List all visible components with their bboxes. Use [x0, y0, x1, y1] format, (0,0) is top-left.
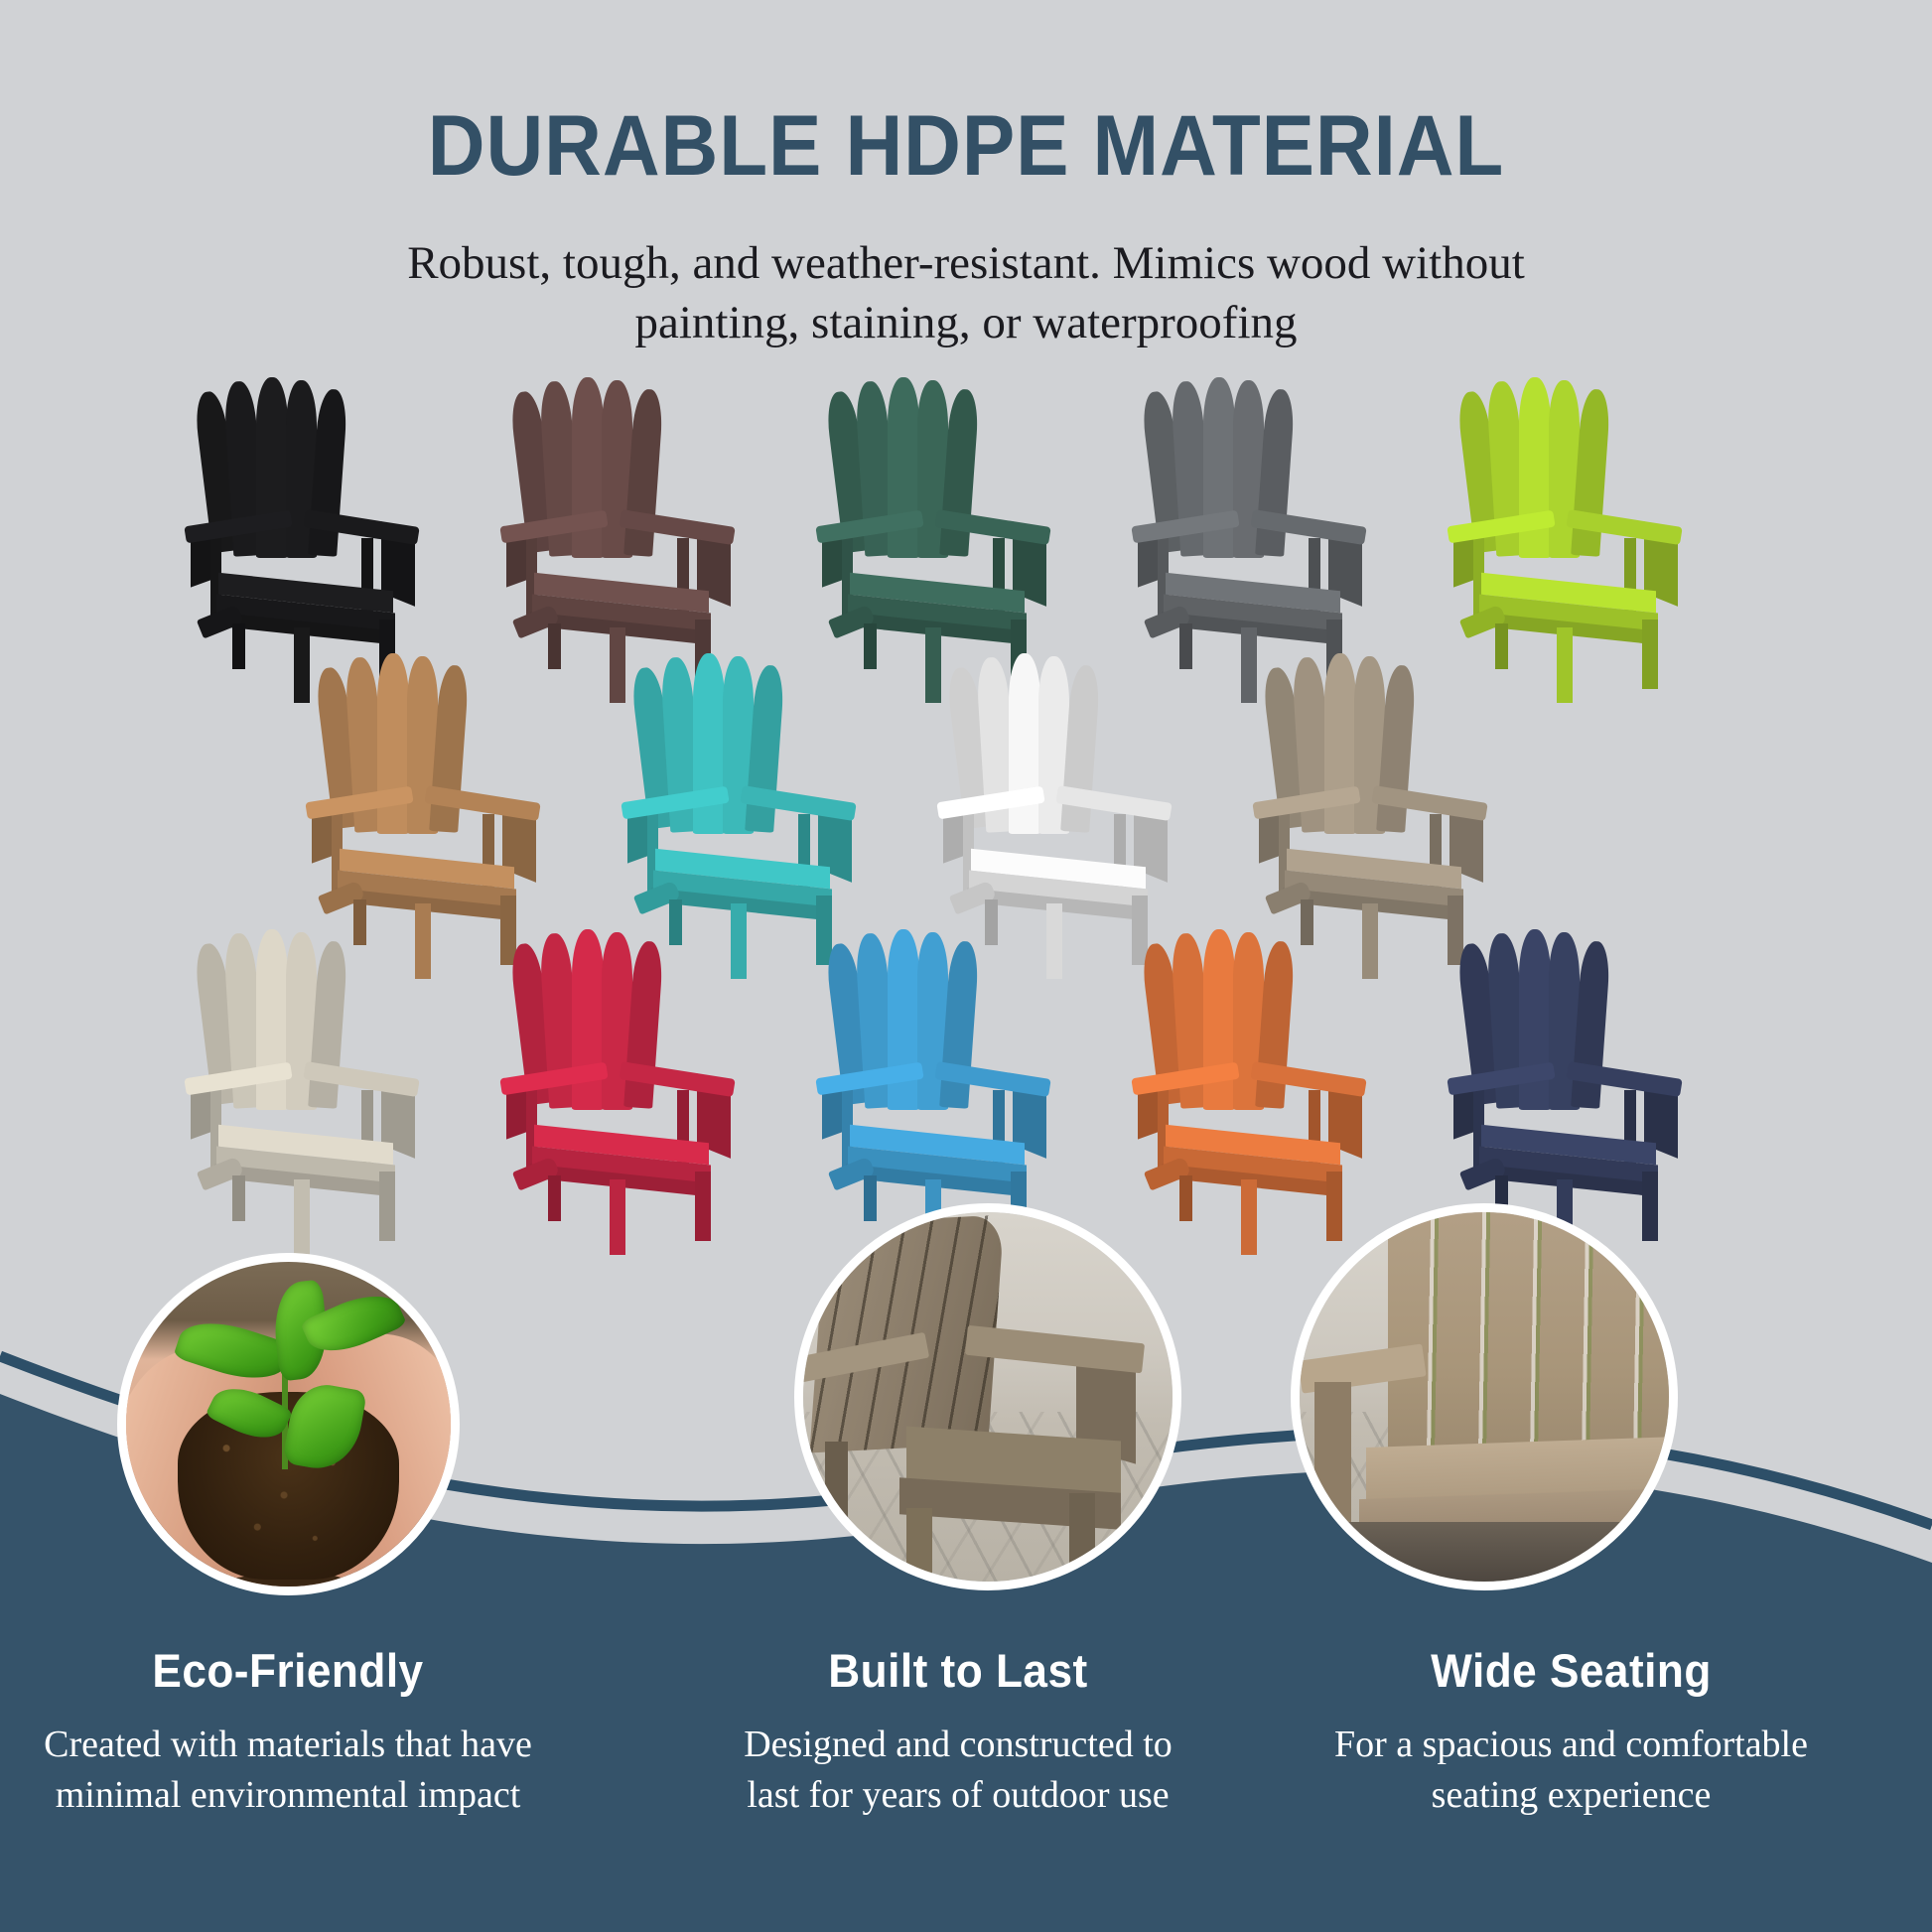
chair-swatch-gray[interactable]: [1124, 369, 1372, 637]
chair-swatch-light-blue[interactable]: [808, 921, 1056, 1189]
adirondack-chair-icon: [614, 645, 862, 913]
feature-body-line-2: seating experience: [1276, 1770, 1866, 1821]
chair-row-2: [0, 645, 1932, 921]
adirondack-chair-icon: [1124, 921, 1372, 1189]
chair-part-legBL: [548, 1175, 561, 1221]
page-title: DURABLE HDPE MATERIAL: [68, 97, 1864, 196]
adirondack-chair-icon: [1440, 921, 1688, 1189]
chair-swatch-black[interactable]: [177, 369, 425, 637]
adirondack-chair-icon: [808, 369, 1056, 637]
feature-body: For a spacious and comfortable seating e…: [1276, 1720, 1866, 1821]
feature-image-built-to-last: [794, 1203, 1181, 1590]
adirondack-chair-icon: [929, 645, 1177, 913]
hands-holding-seedling-icon: [126, 1262, 451, 1587]
chair-color-grid: [0, 369, 1932, 1197]
chair-part-legBL: [232, 1175, 245, 1221]
chair-swatch-navy[interactable]: [1440, 921, 1688, 1189]
chair-swatch-khaki[interactable]: [1245, 645, 1493, 913]
feature-image-wide-seating: [1291, 1203, 1678, 1590]
feature-body-line-1: For a spacious and comfortable: [1276, 1720, 1866, 1770]
adirondack-chair-icon: [492, 369, 741, 637]
subtitle-line-1: Robust, tough, and weather-resistant. Mi…: [0, 233, 1932, 293]
chair-part-legFL: [294, 1179, 310, 1255]
chair-swatch-turquoise[interactable]: [614, 645, 862, 913]
feature-heading: Eco-Friendly: [55, 1643, 521, 1698]
page-subtitle: Robust, tough, and weather-resistant. Mi…: [0, 233, 1932, 352]
chair-part-legFR: [379, 1172, 395, 1241]
chair-swatch-lime-green[interactable]: [1440, 369, 1688, 637]
feature-body: Created with materials that have minimal…: [40, 1720, 536, 1821]
chair-part-legBL: [1179, 1175, 1192, 1221]
chair-part-legFL: [610, 1179, 625, 1255]
feature-eco-friendly: Eco-Friendly Created with materials that…: [40, 1643, 536, 1821]
chair-swatch-tan[interactable]: [298, 645, 546, 913]
adirondack-chair-icon: [1124, 369, 1372, 637]
chair-swatch-brown[interactable]: [492, 369, 741, 637]
chair-part-legFL: [1241, 1179, 1257, 1255]
feature-body: Designed and constructed to last for yea…: [695, 1720, 1221, 1821]
adirondack-chair-icon: [177, 921, 425, 1189]
feature-body-line-2: minimal environmental impact: [40, 1770, 536, 1821]
chair-swatch-ivory[interactable]: [177, 921, 425, 1189]
chair-row-1: [0, 369, 1932, 645]
feature-body-line-2: last for years of outdoor use: [695, 1770, 1221, 1821]
feature-heading: Wide Seating: [1294, 1643, 1849, 1698]
adirondack-chair-icon: [808, 921, 1056, 1189]
adirondack-chair-icon: [1245, 645, 1493, 913]
chair-swatch-white[interactable]: [929, 645, 1177, 913]
chair-swatch-red[interactable]: [492, 921, 741, 1189]
adirondack-chair-icon: [1440, 369, 1688, 637]
chair-seat-closeup-icon: [1300, 1212, 1669, 1582]
chair-swatch-orange[interactable]: [1124, 921, 1372, 1189]
feature-wide-seating: Wide Seating For a spacious and comforta…: [1276, 1643, 1866, 1821]
feature-built-to-last: Built to Last Designed and constructed t…: [695, 1643, 1221, 1821]
chair-part-legFR: [695, 1172, 711, 1241]
chair-swatch-dark-green[interactable]: [808, 369, 1056, 637]
chair-row-3: [0, 921, 1932, 1197]
feature-heading: Built to Last: [711, 1643, 1205, 1698]
infographic-canvas: DURABLE HDPE MATERIAL Robust, tough, and…: [0, 0, 1932, 1932]
adirondack-chair-icon: [177, 369, 425, 637]
feature-body-line-1: Created with materials that have: [40, 1720, 536, 1770]
feature-body-line-1: Designed and constructed to: [695, 1720, 1221, 1770]
adirondack-chair-on-patio-icon: [803, 1212, 1173, 1582]
feature-image-eco-friendly: [117, 1253, 460, 1595]
adirondack-chair-icon: [298, 645, 546, 913]
subtitle-line-2: painting, staining, or waterproofing: [0, 293, 1932, 352]
adirondack-chair-icon: [492, 921, 741, 1189]
